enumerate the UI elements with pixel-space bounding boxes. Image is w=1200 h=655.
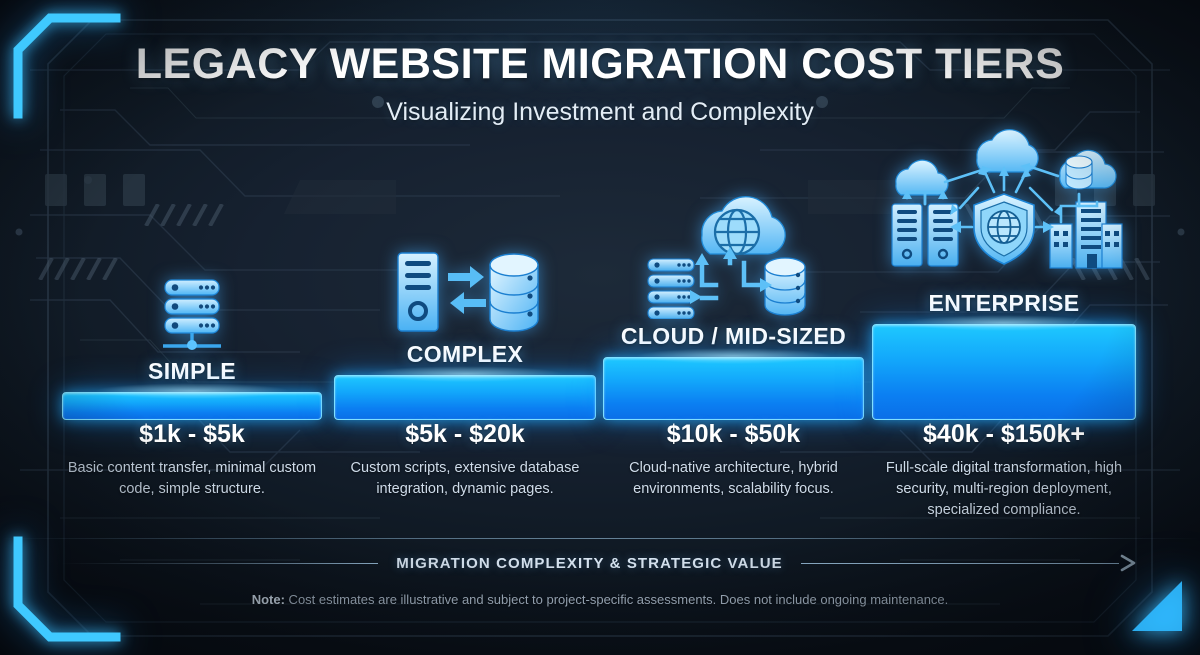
description-enterprise: Full-scale digital transformation, high … bbox=[867, 458, 1141, 521]
tier-label-simple: SIMPLE bbox=[148, 358, 236, 385]
footer-note-prefix: Note: bbox=[252, 592, 285, 607]
axis-label: MIGRATION COMPLEXITY & STRATEGIC VALUE bbox=[378, 555, 801, 572]
infographic-canvas: LEGACY WEBSITE MIGRATION COST TIERS Visu… bbox=[0, 0, 1200, 655]
tier-label-complex: COMPLEX bbox=[407, 341, 524, 368]
tier-column-simple[interactable]: SIMPLE bbox=[63, 276, 321, 420]
footer-note: Note: Cost estimates are illustrative an… bbox=[0, 592, 1200, 607]
axis-line-left bbox=[60, 563, 378, 564]
tier-info-simple: $1k - $5k Basic content transfer, minima… bbox=[63, 420, 321, 500]
corner-bracket-bottom-left bbox=[6, 531, 124, 649]
tower-database-exchange-icon bbox=[390, 247, 540, 337]
price-complex: $5k - $20k bbox=[335, 420, 595, 449]
tier-label-enterprise: ENTERPRISE bbox=[929, 290, 1080, 317]
description-simple: Basic content transfer, minimal custom c… bbox=[63, 458, 321, 500]
description-complex: Custom scripts, extensive database integ… bbox=[335, 458, 595, 500]
bar-enterprise[interactable] bbox=[872, 324, 1136, 420]
arrow-right-icon bbox=[1118, 553, 1140, 573]
axis-separator-line bbox=[0, 538, 1200, 539]
price-simple: $1k - $5k bbox=[63, 420, 321, 449]
tier-labels: $1k - $5k Basic content transfer, minima… bbox=[40, 420, 1160, 530]
header: LEGACY WEBSITE MIGRATION COST TIERS Visu… bbox=[0, 40, 1200, 127]
tier-info-complex: $5k - $20k Custom scripts, extensive dat… bbox=[335, 420, 595, 500]
axis-line-right bbox=[801, 563, 1119, 564]
bar-simple[interactable] bbox=[62, 392, 322, 420]
page-subtitle: Visualizing Investment and Complexity bbox=[0, 98, 1200, 127]
bar-chart: SIMPLE bbox=[40, 130, 1160, 420]
corner-wedge-bottom-right bbox=[1120, 573, 1192, 645]
enterprise-multicloud-shield-icon bbox=[882, 126, 1126, 286]
footer-note-text: Cost estimates are illustrative and subj… bbox=[285, 592, 948, 607]
tier-info-enterprise: $40k - $150k+ Full-scale digital transfo… bbox=[867, 420, 1141, 521]
server-stack-icon bbox=[146, 276, 238, 354]
bar-complex[interactable] bbox=[334, 375, 596, 420]
page-title: LEGACY WEBSITE MIGRATION COST TIERS bbox=[0, 40, 1200, 89]
cloud-globe-network-icon bbox=[644, 189, 824, 319]
complexity-axis: MIGRATION COMPLEXITY & STRATEGIC VALUE bbox=[60, 550, 1140, 576]
tier-info-cloud: $10k - $50k Cloud-native architecture, h… bbox=[604, 420, 863, 500]
description-cloud: Cloud-native architecture, hybrid enviro… bbox=[604, 458, 863, 500]
tier-column-complex[interactable]: COMPLEX bbox=[335, 247, 595, 420]
price-cloud: $10k - $50k bbox=[604, 420, 863, 449]
tier-column-enterprise[interactable]: ENTERPRISE bbox=[873, 126, 1135, 420]
bar-cloud[interactable] bbox=[603, 357, 864, 420]
tier-label-cloud: CLOUD / MID-SIZED bbox=[621, 323, 846, 350]
tier-column-cloud[interactable]: CLOUD / MID-SIZED bbox=[604, 189, 863, 420]
price-enterprise: $40k - $150k+ bbox=[867, 420, 1141, 449]
